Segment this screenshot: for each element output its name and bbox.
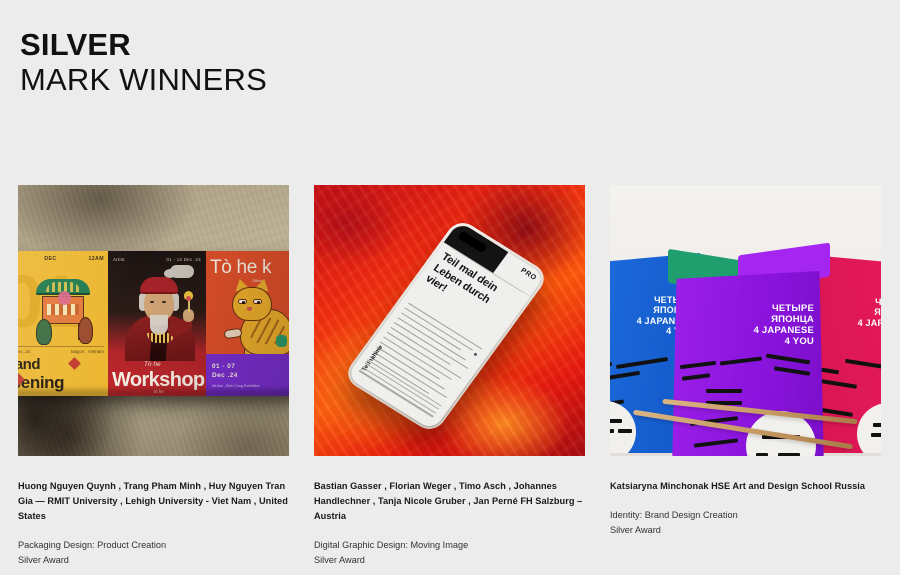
- page-title: SILVER MARK WINNERS: [20, 28, 267, 97]
- box-label-line2: ЯПОНЦА: [754, 314, 814, 325]
- box-label-line1: ЧЕТЫРЕ: [754, 303, 814, 314]
- phone-notch: [457, 230, 488, 253]
- winners-grid: 01 4 DEC 12AM: [18, 185, 882, 568]
- poster-divider: [18, 346, 104, 347]
- box-label-line4: 4 YOU: [858, 328, 881, 338]
- box-label-pink: ЧЕТЫРЕ ЯПОНЦА 4 JAPANESE 4 YOU: [858, 297, 881, 339]
- cat-illustration: [222, 285, 289, 361]
- poster-date-line3: Ha Noi , Dinh Cong Exhibition: [212, 384, 260, 388]
- winner-category: Packaging Design: Product Creation: [18, 538, 289, 553]
- winner-meta: Packaging Design: Product Creation Silve…: [18, 538, 289, 568]
- poster-grand-opening: 01 4 DEC 12AM: [18, 251, 108, 396]
- winner-thumbnail-noodle-box-packaging[interactable]: ЧЕТЫРЕ ЯПОНЦА 4 JAPANESE 4 YOU: [610, 185, 881, 456]
- winner-category: Digital Graphic Design: Moving Image: [314, 538, 585, 553]
- silver-mark-winners-page: SILVER MARK WINNERS 01 4 DEC 12AM: [0, 0, 900, 575]
- page-title-line1: SILVER: [20, 28, 267, 63]
- poster-to-he-cat: Tò he k Official: [206, 251, 289, 396]
- box-label-line1: ЧЕТЫРЕ: [858, 297, 881, 307]
- poster-date-line1: 01 - 07: [212, 363, 235, 370]
- poster-board: 01 4 DEC 12AM: [18, 251, 289, 396]
- winner-credit: Katsiaryna Minchonak HSE Art and Design …: [610, 479, 881, 494]
- poster-top-left: Artist: [113, 257, 125, 262]
- poster-sub-left: 01 Dec .24: [18, 349, 30, 354]
- poster-top-right: 01 - 12 Dec .24: [166, 257, 201, 262]
- phone-body-text: [366, 303, 482, 407]
- box-label-line4: 4 YOU: [754, 336, 814, 347]
- poster-top-center: DEC: [44, 256, 56, 262]
- winner-award: Silver Award: [314, 553, 585, 568]
- winner-thumbnail-phone-on-red-fabric[interactable]: PRO Teil mal dein Leben durch vier! Teil…: [314, 185, 585, 456]
- box-label-line3: 4 JAPANESE: [858, 318, 881, 328]
- poster-top-right: 12AM: [88, 256, 103, 262]
- poster-subinfo: 01 Dec .24 Saigon , Vietnam: [18, 349, 104, 354]
- diamond-accent-icon: [68, 357, 81, 370]
- box-label-line2: ЯПОНЦА: [858, 307, 881, 317]
- poster-title-line1: Grand: [18, 356, 40, 373]
- page-title-line2: MARK WINNERS: [20, 63, 267, 98]
- box-label-line3: 4 JAPANESE: [754, 325, 814, 336]
- winner-caption: Huong Nguyen Quynh , Trang Pham Minh , H…: [18, 479, 289, 568]
- winner-award: Silver Award: [18, 553, 289, 568]
- poster-top-row: Artist 01 - 12 Dec .24: [113, 257, 201, 262]
- winner-meta: Digital Graphic Design: Moving Image Sil…: [314, 538, 585, 568]
- board-shadow: [18, 390, 289, 408]
- poster-title-small: Tò he: [144, 361, 161, 368]
- pavilion-illustration: [34, 279, 92, 341]
- poster-title: Tò he k: [210, 257, 271, 279]
- winner-card[interactable]: PRO Teil mal dein Leben durch vier! Teil…: [314, 185, 585, 568]
- winner-credit: Huong Nguyen Quynh , Trang Pham Minh , H…: [18, 479, 289, 524]
- box-label-purple: ЧЕТЫРЕ ЯПОНЦА 4 JAPANESE 4 YOU: [754, 303, 814, 347]
- winner-caption: Katsiaryna Minchonak HSE Art and Design …: [610, 479, 881, 538]
- poster-to-he-workshop: Artist 01 - 12 Dec .24: [108, 251, 206, 396]
- winner-meta: Identity: Brand Design Creation Silver A…: [610, 508, 881, 538]
- poster-date-line2: Dec .24: [212, 372, 238, 379]
- winner-category: Identity: Brand Design Creation: [610, 508, 881, 523]
- winner-card[interactable]: ЧЕТЫРЕ ЯПОНЦА 4 JAPANESE 4 YOU: [610, 185, 881, 568]
- winner-card[interactable]: 01 4 DEC 12AM: [18, 185, 289, 568]
- winner-credit: Bastian Gasser , Florian Weger , Timo As…: [314, 479, 585, 524]
- artisan-portrait: [127, 275, 191, 361]
- poster-top-row: 4 DEC 12AM: [18, 256, 104, 262]
- tab-pro: PRO: [519, 267, 538, 282]
- winner-caption: Bastian Gasser , Florian Weger , Timo As…: [314, 479, 585, 568]
- winner-thumbnail-to-he-poster-series[interactable]: 01 4 DEC 12AM: [18, 185, 289, 456]
- winner-award: Silver Award: [610, 523, 881, 538]
- poster-sub-right: Saigon , Vietnam: [71, 349, 104, 354]
